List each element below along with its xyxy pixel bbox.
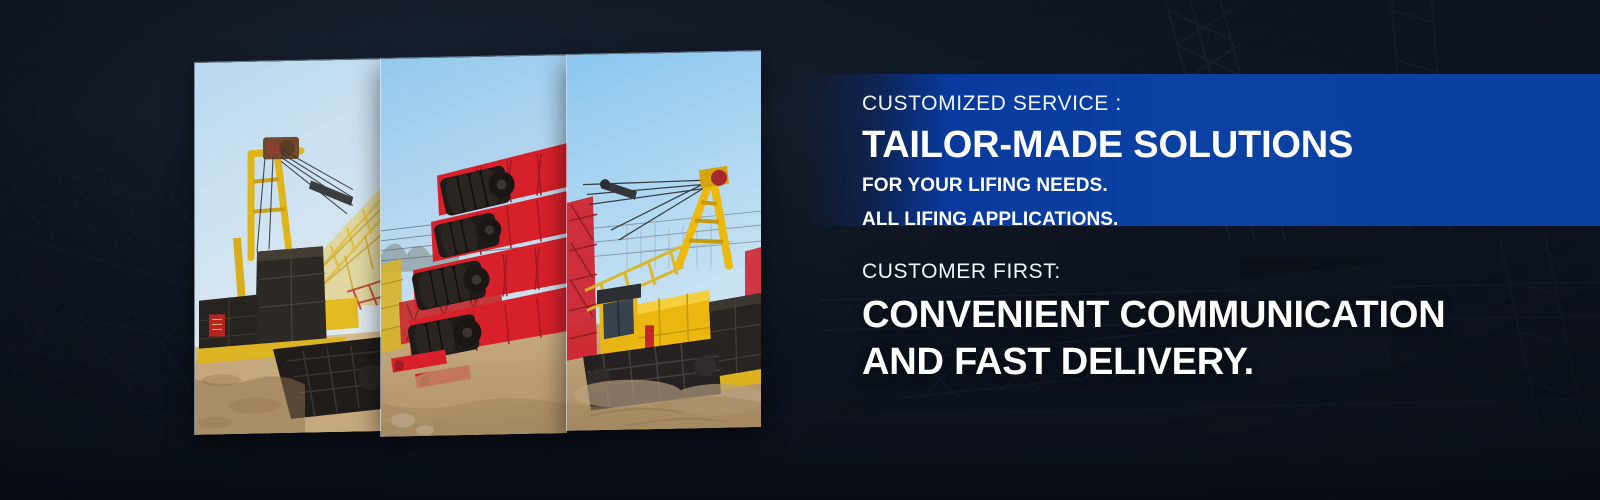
- photo-yellow-crawler-crane-cab[interactable]: [566, 50, 761, 431]
- photo-red-boom-sheave-blocks[interactable]: [380, 54, 567, 437]
- promo-banner: CUSTOMIZED SERVICE : TAILOR-MADE SOLUTIO…: [0, 0, 1600, 500]
- subline-all-lifing-applications: ALL LIFING APPLICATIONS.: [862, 207, 1353, 232]
- photo-strip: [190, 50, 770, 450]
- eyebrow-customer-first: CUSTOMER FIRST:: [862, 261, 1445, 282]
- photo-yellow-crawler-crane-rear[interactable]: [194, 58, 381, 435]
- message-block-customer-first: CUSTOMER FIRST: CONVENIENT COMMUNICATION…: [862, 261, 1445, 385]
- headline-and-fast-delivery: AND FAST DELIVERY.: [862, 340, 1445, 385]
- subline-for-your-lifing-needs: FOR YOUR LIFING NEEDS.: [862, 173, 1353, 198]
- headline-convenient-communication: CONVENIENT COMMUNICATION: [862, 293, 1445, 338]
- eyebrow-customized-service: CUSTOMIZED SERVICE :: [862, 93, 1353, 114]
- headline-tailor-made-solutions: TAILOR-MADE SOLUTIONS: [862, 125, 1353, 165]
- message-block-customized-service: CUSTOMIZED SERVICE : TAILOR-MADE SOLUTIO…: [862, 93, 1353, 232]
